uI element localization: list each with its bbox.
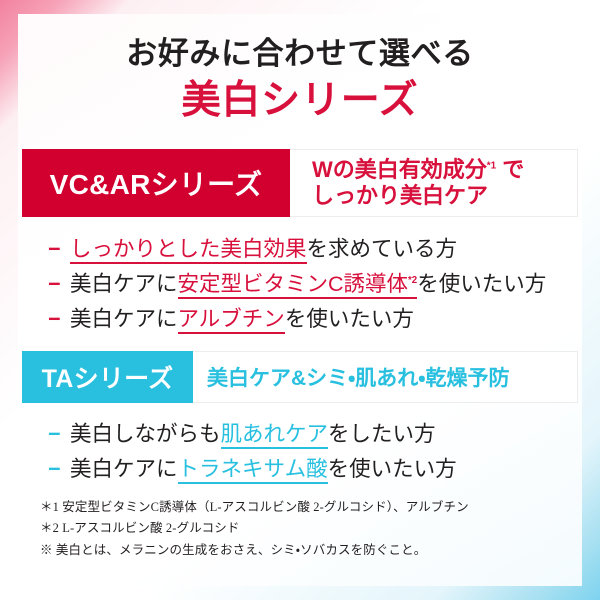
series-vc-ar: VC&ARシリーズ Wの美白有効成分*1 で しっかり美白ケア − しっかりとし… [22,149,578,350]
bullet-highlight: 安定型ビタミンC誘導体*2 [178,272,418,299]
bullet-highlight: トラネキサム酸 [178,457,328,484]
bullet-highlight-text: 安定型ビタミンC誘導体 [178,272,409,296]
footnote-ref-1: *1 [487,160,496,171]
tagline-line1-after: で [496,157,524,182]
headline-block: お好みに合わせて選べる 美白シリーズ [18,14,582,123]
tagline-line2: しっかり美白ケア [312,183,488,208]
series-ta: TAシリーズ 美白ケア&シミ・肌あれ・乾燥予防 − 美白しながらも肌あれケアをし… [22,351,578,493]
series-vc-ar-header: VC&ARシリーズ Wの美白有効成分*1 で しっかり美白ケア [22,149,578,217]
bullet-text: 美白しながらも肌あれケアをしたい方 [70,417,436,452]
bullet-item: − 美白しながらも肌あれケアをしたい方 [48,417,578,452]
bullet-item: − 美白ケアにトラネキサム酸を使いたい方 [48,452,578,487]
bullet-dash-icon: − [48,417,70,452]
series-vc-ar-bullet-list: − しっかりとした美白効果を求めている方 − 美白ケアに安定型ビタミンC誘導体*… [22,217,578,350]
series-vc-ar-tag: VC&ARシリーズ [22,149,290,217]
bullet-text: 美白ケアに安定型ビタミンC誘導体*2を使いたい方 [70,267,546,302]
series-ta-tagline: 美白ケア&シミ・肌あれ・乾燥予防 [193,351,578,403]
series-ta-bullet-list: − 美白しながらも肌あれケアをしたい方 − 美白ケアにトラネキサム酸を使いたい方 [22,403,578,493]
bullet-item: − 美白ケアに安定型ビタミンC誘導体*2を使いたい方 [48,267,578,302]
bullet-post: を求めている方 [307,237,458,261]
bullet-pre: 美白ケアに [70,457,178,481]
bullet-dash-icon: − [48,232,70,267]
bullet-pre: 美白ケアに [70,307,178,331]
footnote-line: ※ 美白とは、メラニンの生成をおさえ、シミ・ソバカスを防ぐこと。 [40,540,582,562]
bullet-post: を使いたい方 [285,307,414,331]
tagline-line1-before: Wの美白有効成分 [312,157,487,182]
bullet-highlight: 肌あれケア [221,422,329,449]
bullet-highlight: しっかりとした美白効果 [70,237,307,264]
bullet-text: 美白ケアにアルブチンを使いたい方 [70,302,414,337]
bullet-post: を使いたい方 [417,272,546,296]
bullet-item: − しっかりとした美白効果を求めている方 [48,232,578,267]
series-ta-header: TAシリーズ 美白ケア&シミ・肌あれ・乾燥予防 [22,351,578,403]
bullet-dash-icon: − [48,267,70,302]
content-panel: お好みに合わせて選べる 美白シリーズ VC&ARシリーズ Wの美白有効成分*1 … [18,14,582,586]
footnotes-block: ＊1 安定型ビタミンC誘導体（L-アスコルビン酸 2-グルコシド）、アルブチン … [18,493,582,562]
series-vc-ar-tagline: Wの美白有効成分*1 で しっかり美白ケア [290,149,578,217]
footnote-line: ＊2 L-アスコルビン酸 2-グルコシド [40,518,582,540]
headline-subtitle: お好みに合わせて選べる [18,36,582,73]
spacer-after-headline [18,123,582,149]
footnote-ref-2: *2 [408,275,417,286]
bullet-post: を使いたい方 [328,457,457,481]
bullet-item: − 美白ケアにアルブチンを使いたい方 [48,302,578,337]
bullet-dash-icon: − [48,302,70,337]
headline-title: 美白シリーズ [18,79,582,124]
bullet-highlight: アルブチン [178,307,285,334]
bullet-text: 美白ケアにトラネキサム酸を使いたい方 [70,452,457,487]
bullet-post: をしたい方 [328,422,436,446]
footnote-line: ＊1 安定型ビタミンC誘導体（L-アスコルビン酸 2-グルコシド）、アルブチン [40,497,582,519]
bullet-dash-icon: − [48,452,70,487]
series-ta-tag: TAシリーズ [22,351,193,403]
bullet-pre: 美白ケアに [70,272,178,296]
bullet-pre: 美白しながらも [70,422,221,446]
infographic-root: お好みに合わせて選べる 美白シリーズ VC&ARシリーズ Wの美白有効成分*1 … [0,0,600,600]
bullet-text: しっかりとした美白効果を求めている方 [70,232,457,267]
